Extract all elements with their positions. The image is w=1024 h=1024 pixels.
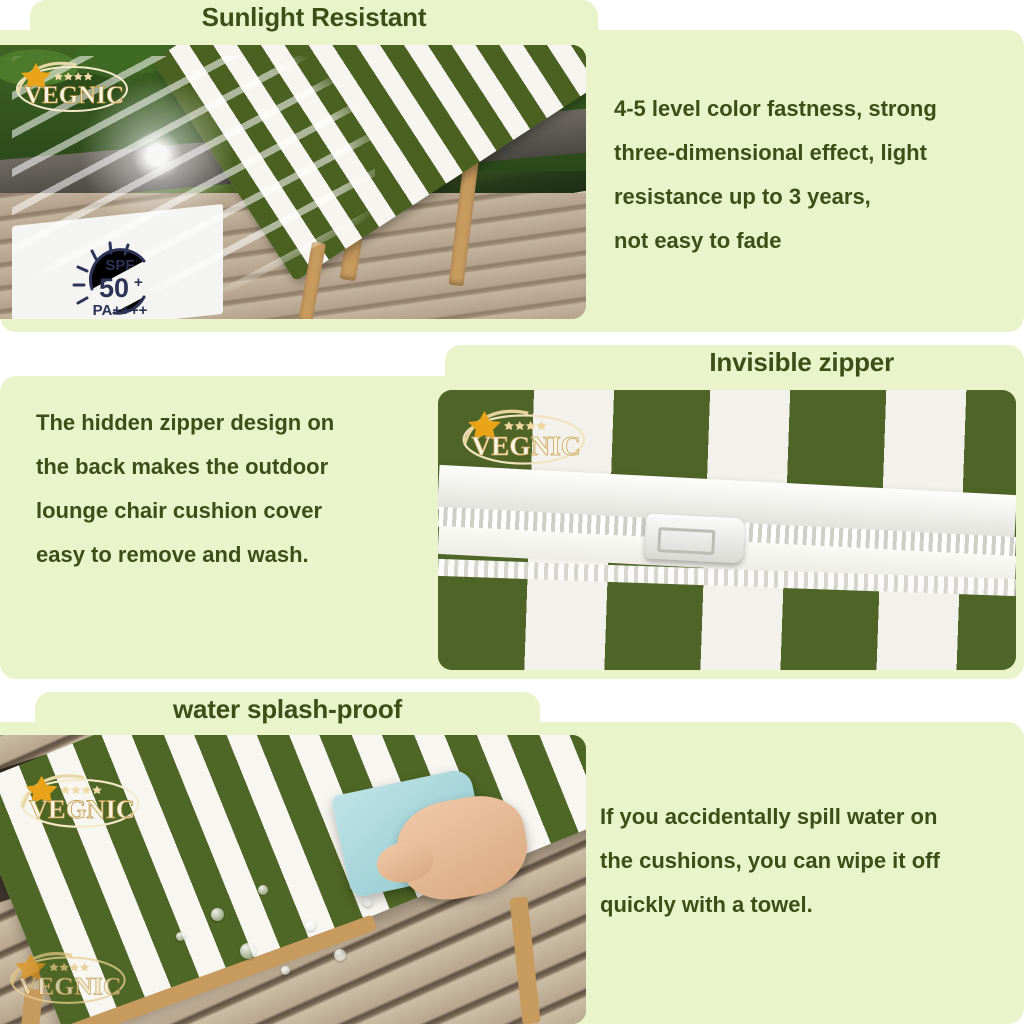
copy-line: the back makes the outdoor	[36, 456, 436, 478]
copy-line: 4-5 level color fastness, strong	[614, 98, 1014, 120]
spf-plus: +	[134, 274, 143, 291]
copy-line: not easy to fade	[614, 230, 1014, 252]
vegnic-logo: VEGNIC	[10, 53, 138, 115]
panel-title: water splash-proof	[173, 694, 402, 725]
vegnic-logo-secondary: VEGNIC	[4, 943, 136, 1007]
spf-label: SPF	[105, 257, 134, 274]
panel-copy: The hidden zipper design on the back mak…	[36, 412, 436, 588]
copy-line: The hidden zipper design on	[36, 412, 436, 434]
pa-rating: PA++++	[93, 302, 148, 319]
infographic-sheet: Sunlight Resistant	[0, 0, 1024, 1024]
vegnic-wordmark: VEGNIC	[24, 82, 124, 109]
copy-line: lounge chair cushion cover	[36, 500, 436, 522]
spf-value: 50	[99, 273, 129, 303]
water-droplet	[334, 949, 346, 961]
vegnic-wordmark: VEGNIC	[29, 794, 135, 824]
vegnic-wordmark: VEGNIC	[471, 431, 580, 461]
spf-badge: SPF 50 + PA++++	[62, 237, 178, 319]
zipper-slider	[645, 513, 745, 563]
product-photo-sunlight: VEGNIC SPF 50	[0, 45, 586, 319]
panel-copy: 4-5 level color fastness, strong three-d…	[614, 98, 1014, 274]
copy-line: easy to remove and wash.	[36, 544, 436, 566]
panel-title-tab: Sunlight Resistant	[30, 0, 598, 34]
copy-line: three-dimensional effect, light	[614, 142, 1014, 164]
vegnic-wordmark: VEGNIC	[18, 972, 121, 1001]
panel-title-tab: water splash-proof	[35, 692, 540, 726]
panel-title: Invisible zipper	[709, 347, 894, 378]
panel-title: Sunlight Resistant	[202, 2, 427, 33]
product-photo-water: VEGNIC VEGNIC	[0, 735, 586, 1024]
copy-line: If you accidentally spill water on	[600, 806, 1020, 828]
product-photo-zipper: VEGNIC	[438, 390, 1016, 670]
panel-copy: If you accidentally spill water on the c…	[600, 806, 1020, 938]
copy-line: the cushions, you can wipe it off	[600, 850, 1020, 872]
vegnic-logo: VEGNIC	[456, 400, 596, 468]
panel-title-tab: Invisible zipper	[445, 345, 1024, 379]
water-droplet	[176, 932, 185, 941]
copy-line: quickly with a towel.	[600, 894, 1020, 916]
copy-line: resistance up to 3 years,	[614, 186, 1014, 208]
water-droplet	[305, 920, 316, 931]
vegnic-logo: VEGNIC	[14, 765, 150, 831]
